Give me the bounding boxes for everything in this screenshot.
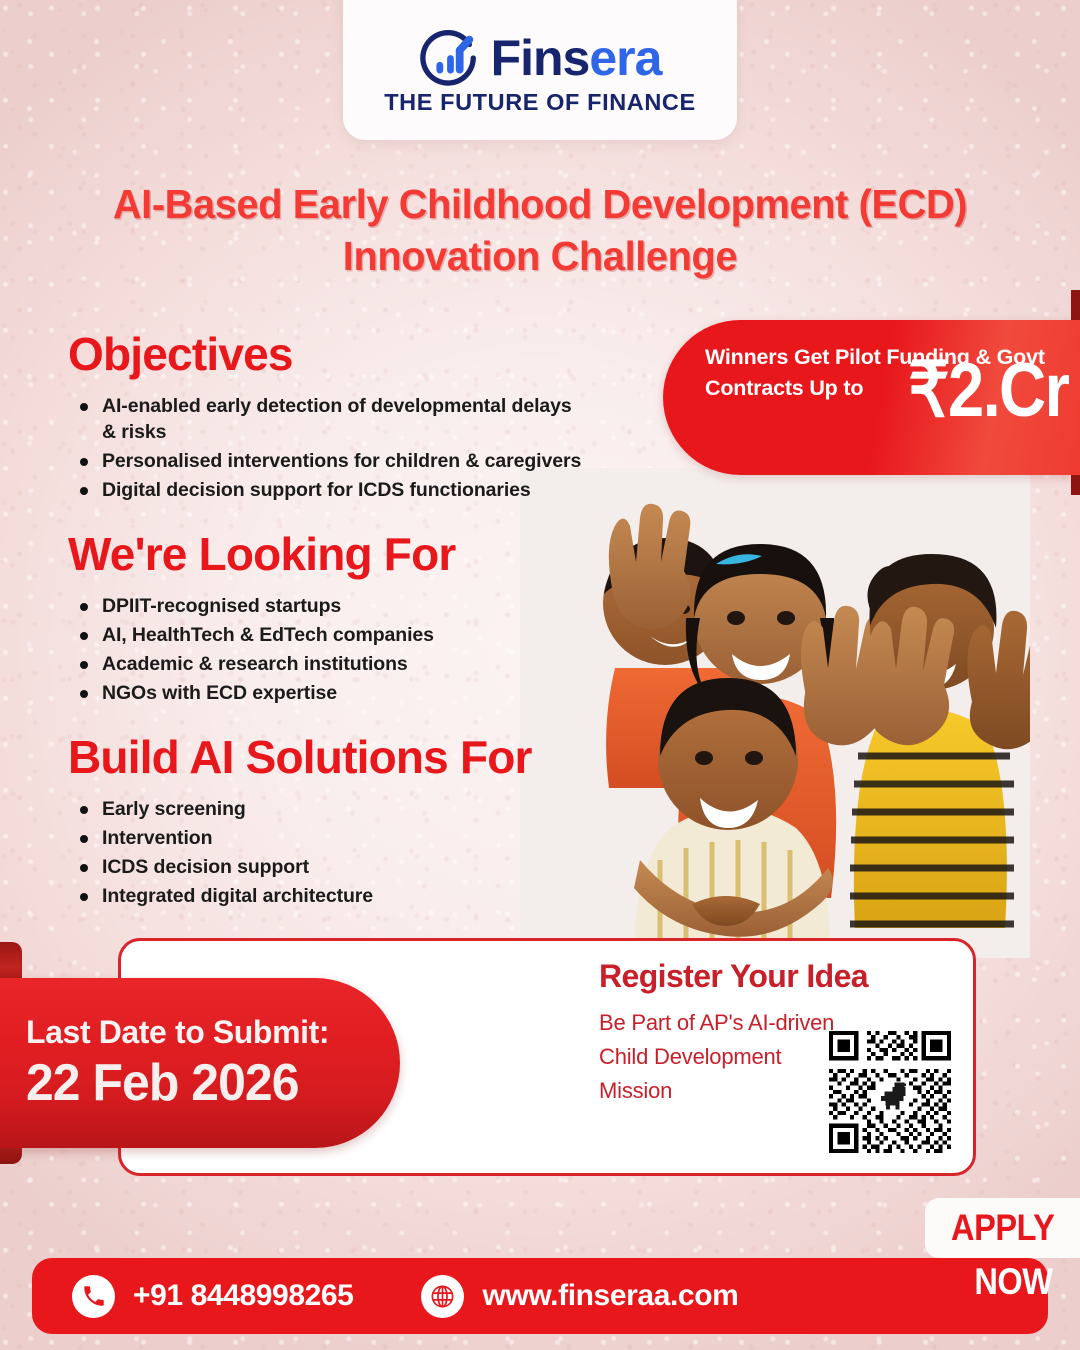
apply-label: APPLY (951, 1207, 1054, 1249)
now-label: NOW (974, 1261, 1052, 1303)
section-heading-looking-for: We're Looking For (68, 530, 588, 578)
register-subtitle: Be Part of AP's AI-driven Child Developm… (599, 1006, 849, 1108)
list-item: AI-enabled early detection of developmen… (102, 394, 588, 446)
globe-icon (421, 1275, 464, 1318)
looking-for-list: DPIIT-recognised startups AI, HealthTech… (68, 594, 588, 707)
list-item: NGOs with ECD expertise (102, 681, 588, 707)
list-item: Intervention (102, 826, 588, 852)
brand-name-part1: Fins (491, 30, 590, 86)
qr-code-icon[interactable] (829, 1031, 951, 1153)
section-heading-objectives: Objectives (68, 330, 588, 378)
prize-amount: ₹2.Cr (908, 353, 1068, 429)
website-url: www.finseraa.com (482, 1279, 738, 1313)
list-item: AI, HealthTech & EdTech companies (102, 623, 588, 649)
page-title: AI-Based Early Childhood Development (EC… (65, 178, 1016, 283)
register-title: Register Your Idea (599, 959, 899, 994)
content-column: Objectives AI-enabled early detection of… (68, 330, 588, 913)
children-photo (520, 468, 1030, 958)
apply-button[interactable]: APPLY (925, 1198, 1080, 1258)
poster-root: Finsera THE FUTURE OF FINANCE AI-Based E… (0, 0, 1080, 1350)
prize-badge: Winners Get Pilot Funding & Govt Contrac… (663, 320, 1080, 475)
list-item: ICDS decision support (102, 855, 588, 881)
brand-name-part2: era (589, 30, 661, 86)
brand-tagline: THE FUTURE OF FINANCE (384, 91, 696, 115)
list-item: Personalised interventions for children … (102, 449, 588, 475)
objectives-list: AI-enabled early detection of developmen… (68, 394, 588, 504)
phone-contact[interactable]: +91 8448998265 (72, 1275, 353, 1318)
list-item: DPIIT-recognised startups (102, 594, 588, 620)
deadline-ribbon: Last Date to Submit: 22 Feb 2026 (0, 978, 400, 1148)
build-solutions-list: Early screening Intervention ICDS decisi… (68, 797, 588, 910)
bar-chart-circle-icon (419, 27, 481, 89)
list-item: Integrated digital architecture (102, 884, 588, 910)
section-heading-build-solutions: Build AI Solutions For (68, 733, 588, 781)
logo-row: Finsera (419, 27, 662, 89)
phone-icon (72, 1275, 115, 1318)
list-item: Early screening (102, 797, 588, 823)
brand-wordmark: Finsera (491, 33, 662, 83)
phone-number: +91 8448998265 (133, 1279, 353, 1313)
deadline-date: 22 Feb 2026 (26, 1056, 385, 1111)
list-item: Digital decision support for ICDS functi… (102, 478, 588, 504)
website-contact[interactable]: www.finseraa.com (421, 1275, 738, 1318)
list-item: Academic & research institutions (102, 652, 588, 678)
contact-footer-bar: +91 8448998265 www.finseraa.com (32, 1258, 1048, 1334)
deadline-label: Last Date to Submit: (26, 1015, 400, 1050)
brand-logo-card: Finsera THE FUTURE OF FINANCE (343, 0, 737, 140)
